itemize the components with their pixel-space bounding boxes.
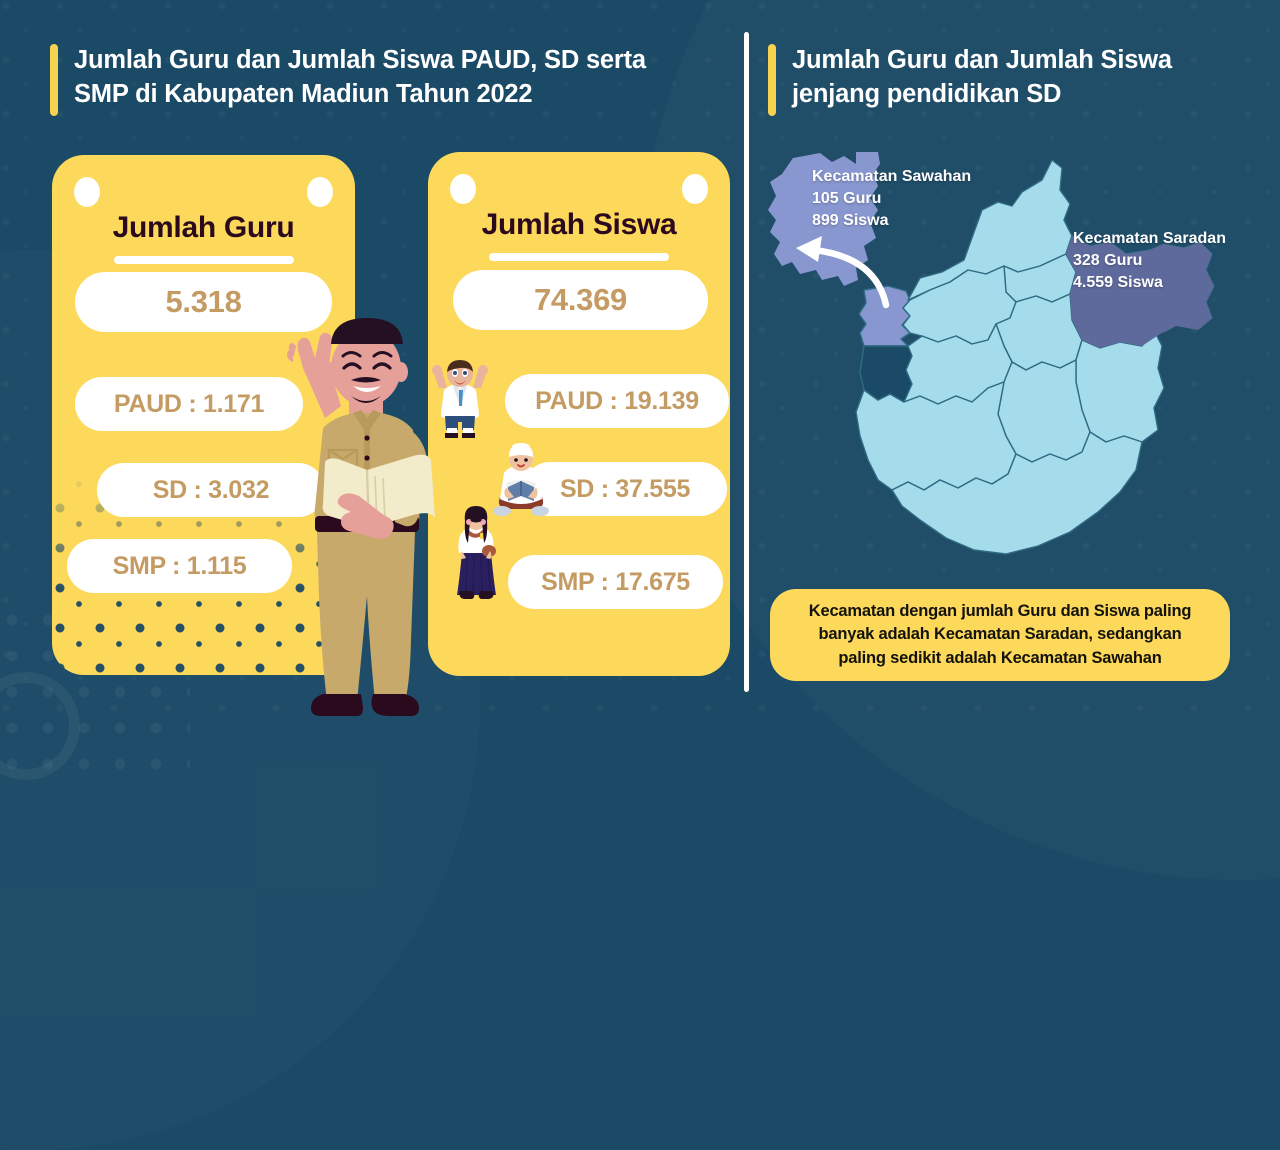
siswa-sd-value: SD : 37.555 (523, 462, 727, 516)
card-punch-hole-right (307, 177, 333, 207)
map-region-east[interactable] (1076, 330, 1164, 442)
card-jumlah-guru-title: Jumlah Guru (52, 211, 355, 245)
map-container: Kecamatan Sawahan 105 Guru 899 Siswa Kec… (760, 150, 1260, 570)
left-panel-title-text: Jumlah Guru dan Jumlah Siswa PAUD, SD se… (74, 44, 646, 111)
student-girl-illustration (449, 505, 504, 605)
map-label-sawahan: Kecamatan Sawahan 105 Guru 899 Siswa (812, 166, 971, 232)
map-caption-box: Kecamatan dengan jumlah Guru dan Siswa p… (770, 589, 1230, 681)
card-punch-hole-right (682, 174, 708, 204)
left-panel-title: Jumlah Guru dan Jumlah Siswa PAUD, SD se… (50, 44, 646, 116)
card-title-underline (489, 253, 669, 261)
title-accent-bar (50, 44, 58, 116)
panel-divider (744, 32, 749, 692)
map-label-saradan: Kecamatan Saradan 328 Guru 4.559 Siswa (1073, 228, 1226, 294)
siswa-total-value: 74.369 (453, 270, 708, 330)
card-title-underline (114, 256, 294, 264)
guru-smp-value: SMP : 1.115 (67, 539, 292, 593)
map-caption-text: Kecamatan dengan jumlah Guru dan Siswa p… (809, 600, 1192, 670)
siswa-smp-value: SMP : 17.675 (508, 555, 723, 609)
card-punch-hole-left (450, 174, 476, 204)
siswa-paud-value: PAUD : 19.139 (505, 374, 729, 428)
card-punch-hole-left (74, 177, 100, 207)
card-jumlah-siswa-title: Jumlah Siswa (428, 208, 730, 242)
right-panel-title-text: Jumlah Guru dan Jumlah Siswa jenjang pen… (792, 44, 1172, 111)
right-panel-title: Jumlah Guru dan Jumlah Siswa jenjang pen… (768, 44, 1172, 116)
title-accent-bar (768, 44, 776, 116)
student-boy-cheering-illustration (430, 358, 490, 440)
